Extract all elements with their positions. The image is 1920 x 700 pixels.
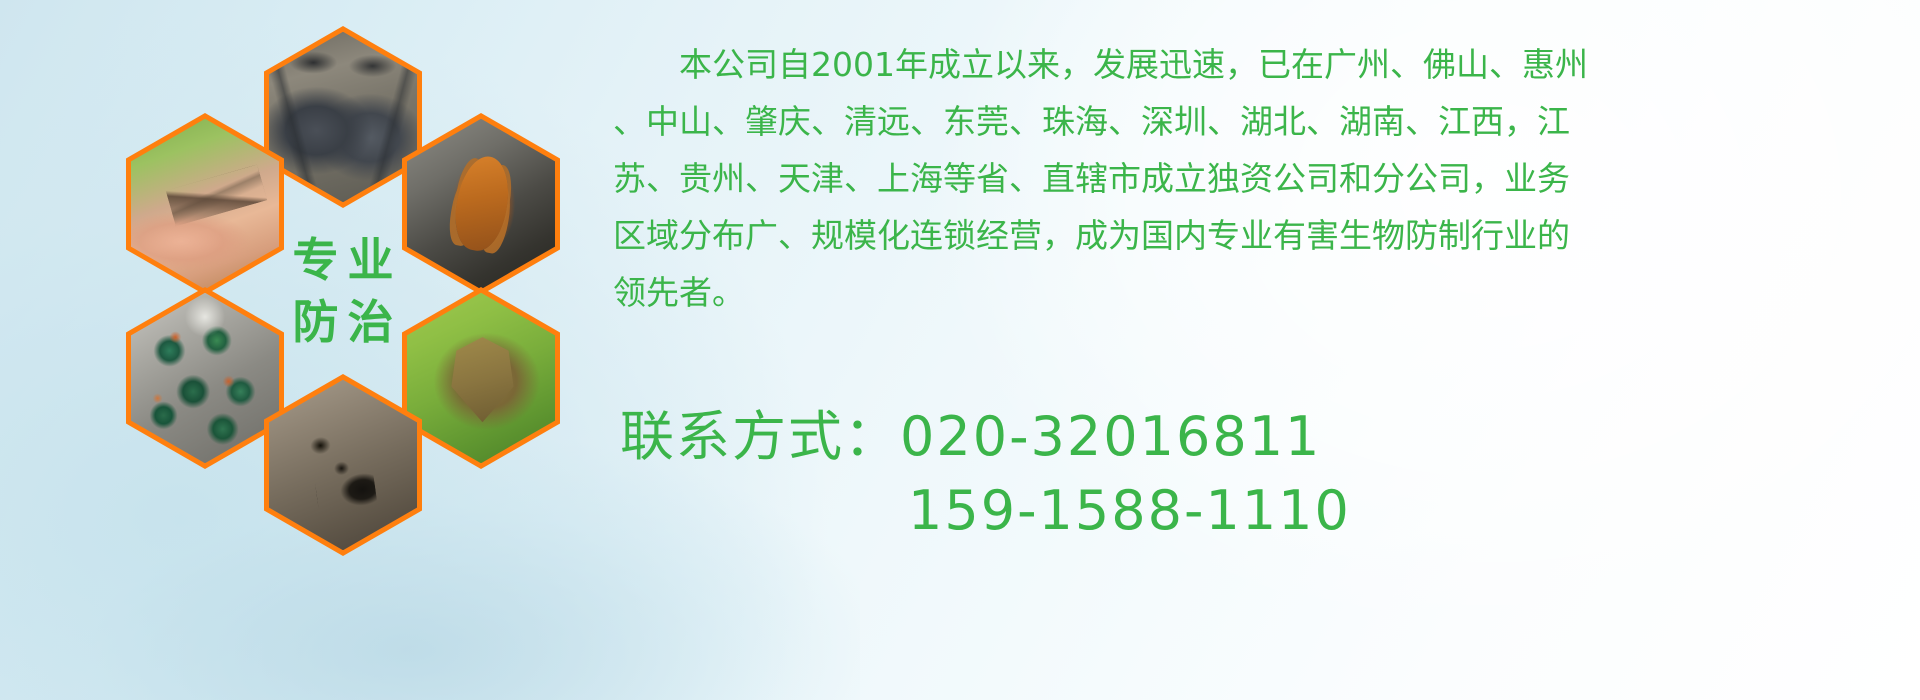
stink-bug-photo: [407, 293, 555, 463]
hex-photo-ant: [264, 374, 422, 556]
company-description: 本公司自2001年成立以来，发展迅速，已在广州、佛山、惠州 、中山、肇庆、清远、…: [613, 36, 1858, 321]
hex-photo-stinkbug-frame: [407, 293, 555, 463]
description-line-4: 区域分布广、规模化连锁经营，成为国内专业有害生物防制行业的: [613, 207, 1858, 264]
contact-info: 联系方式：020-32016811 159-1588-1110: [620, 400, 1880, 548]
description-line-1: 本公司自2001年成立以来，发展迅速，已在广州、佛山、惠州: [613, 36, 1858, 93]
hex-photo-mosquito: [126, 113, 284, 295]
hex-photo-cockroach-frame: [407, 119, 555, 289]
description-line-5: 领先者。: [613, 264, 1858, 321]
promo-banner: 专业 防治 本公司自2001年成立以来，发展迅速，已在广州、佛山、惠州 、中山、…: [0, 0, 1920, 700]
hex-photo-rats-frame: [269, 32, 417, 202]
hex-photo-collage: 专业 防治: [88, 8, 588, 568]
hex-center-slot: [264, 200, 422, 382]
description-line-3: 苏、贵州、天津、上海等省、直辖市成立独资公司和分公司，业务: [613, 150, 1858, 207]
ant-photo: [269, 380, 417, 550]
hex-photo-ant-frame: [269, 380, 417, 550]
rats-photo: [269, 32, 417, 202]
cockroach-photo: [407, 119, 555, 289]
description-line-2: 、中山、肇庆、清远、东莞、珠海、深圳、湖北、湖南、江西，江: [613, 93, 1858, 150]
hex-center-frame: [269, 206, 417, 376]
hex-photo-mosquito-frame: [131, 119, 279, 289]
hex-photo-cockroach: [402, 113, 560, 295]
hex-photo-stinkbug: [402, 287, 560, 469]
hex-photo-rats: [264, 26, 422, 208]
mosquito-photo: [131, 119, 279, 289]
contact-phone-secondary[interactable]: 159-1588-1110: [620, 474, 1880, 548]
hex-photo-flies: [126, 287, 284, 469]
flies-photo: [131, 293, 279, 463]
contact-phone-primary[interactable]: 联系方式：020-32016811: [620, 400, 1880, 474]
hex-photo-flies-frame: [131, 293, 279, 463]
